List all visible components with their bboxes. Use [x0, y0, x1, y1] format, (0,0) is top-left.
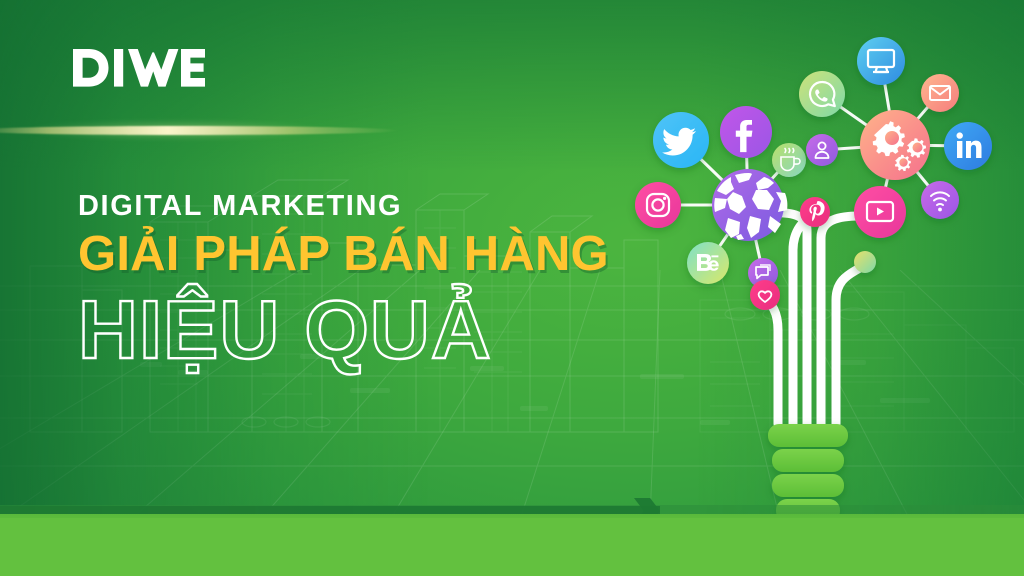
- instagram-icon[interactable]: [635, 182, 681, 228]
- email-icon[interactable]: [921, 74, 959, 112]
- coffee-icon[interactable]: [772, 143, 806, 177]
- facebook-icon[interactable]: [720, 106, 772, 158]
- user-icon[interactable]: [806, 134, 838, 166]
- globe-icon[interactable]: [712, 169, 787, 241]
- twitter-icon[interactable]: [653, 112, 709, 168]
- gears-icon[interactable]: [860, 110, 930, 180]
- monitor-icon[interactable]: [857, 37, 905, 85]
- youtube-icon[interactable]: [854, 186, 906, 238]
- diwe-logo[interactable]: [73, 46, 205, 90]
- dot-node-icon[interactable]: [854, 251, 876, 273]
- linkedin-icon[interactable]: [944, 122, 992, 170]
- whatsapp-icon[interactable]: [799, 71, 845, 117]
- marketing-banner: DIGITAL MARKETING GIẢI PHÁP BÁN HÀNG HIỆ…: [0, 0, 1024, 576]
- heart-icon[interactable]: [750, 280, 780, 310]
- bulb-stems: [748, 205, 880, 424]
- behance-icon[interactable]: [687, 242, 729, 284]
- wifi-icon[interactable]: [921, 181, 959, 219]
- bottom-band: [0, 518, 1024, 576]
- pinterest-icon[interactable]: [800, 197, 830, 227]
- lightbulb-social-illustration: [600, 0, 1024, 576]
